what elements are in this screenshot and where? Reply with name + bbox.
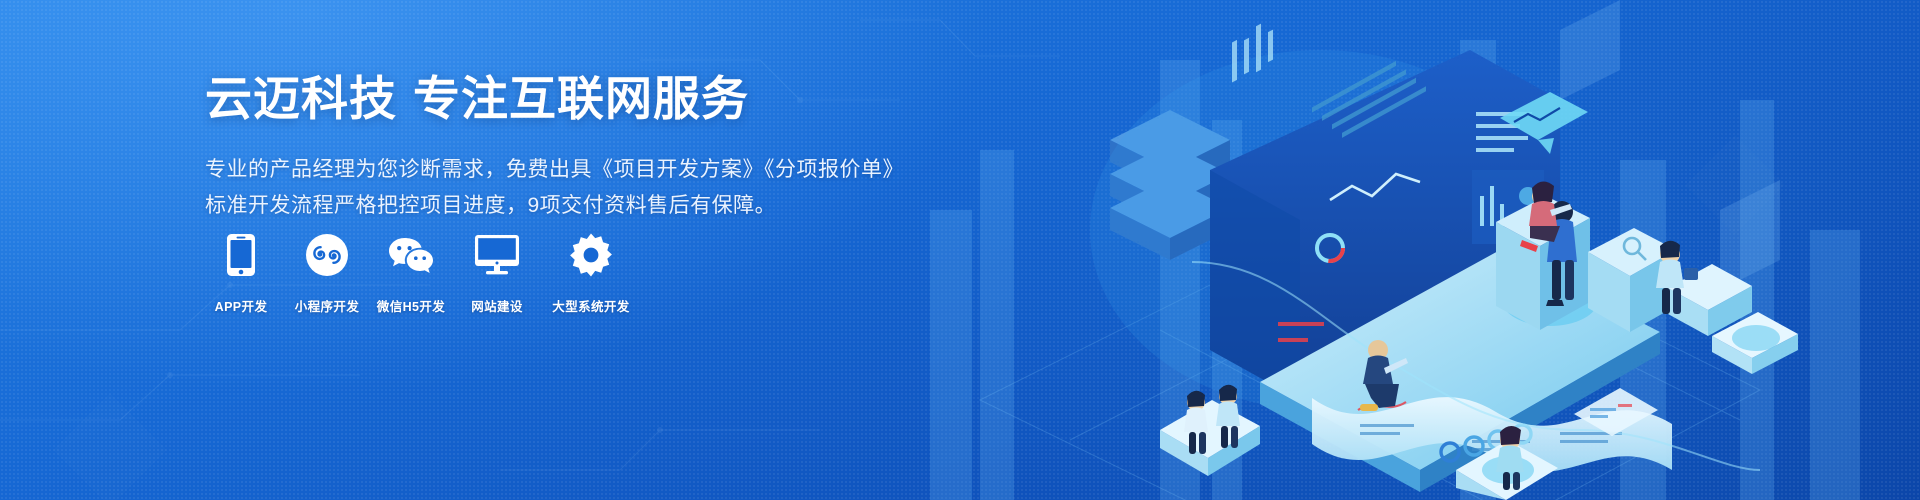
service-label: 网站建设 bbox=[471, 296, 523, 315]
service-label: APP开发 bbox=[215, 296, 268, 315]
page-title: 云迈科技专注互联网服务 bbox=[205, 72, 905, 126]
monitor-icon bbox=[474, 232, 520, 278]
service-item-large-system[interactable]: 大型系统开发 bbox=[555, 232, 627, 315]
hero-illustration bbox=[860, 0, 1920, 500]
banner-subtitle: 专业的产品经理为您诊断需求，免费出具《项目开发方案》《分项报价单》 标准开发流程… bbox=[205, 152, 905, 224]
subtitle-line-1: 专业的产品经理为您诊断需求，免费出具《项目开发方案》《分项报价单》 bbox=[205, 152, 905, 188]
service-list: APP开发 小程序开发 bbox=[205, 232, 627, 315]
service-label: 大型系统开发 bbox=[552, 296, 629, 315]
title-brand: 云迈科技 bbox=[205, 72, 397, 125]
service-item-wechat-h5[interactable]: 微信H5开发 bbox=[375, 232, 447, 315]
title-tagline: 专注互联网服务 bbox=[413, 72, 749, 125]
mini-program-icon bbox=[305, 232, 349, 278]
service-label: 小程序开发 bbox=[295, 296, 360, 315]
service-item-mini-program[interactable]: 小程序开发 bbox=[291, 232, 363, 315]
service-label: 微信H5开发 bbox=[377, 296, 445, 315]
promo-banner: 云迈科技专注互联网服务 专业的产品经理为您诊断需求，免费出具《项目开发方案》《分… bbox=[0, 0, 1920, 500]
subtitle-line-2: 标准开发流程严格把控项目进度，9项交付资料售后有保障。 bbox=[205, 188, 905, 224]
mobile-phone-icon bbox=[226, 232, 256, 278]
banner-copy: 云迈科技专注互联网服务 专业的产品经理为您诊断需求，免费出具《项目开发方案》《分… bbox=[205, 72, 905, 224]
gear-icon bbox=[569, 232, 613, 278]
wechat-icon bbox=[386, 232, 436, 278]
service-item-app[interactable]: APP开发 bbox=[205, 232, 277, 315]
service-item-website[interactable]: 网站建设 bbox=[461, 232, 533, 315]
